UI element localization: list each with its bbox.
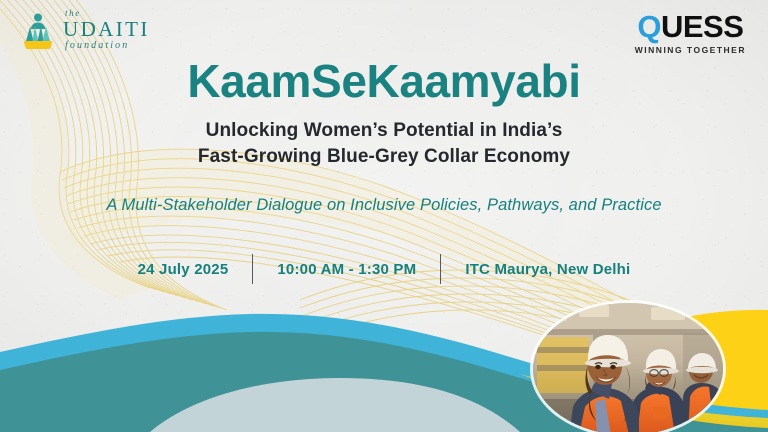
udaiti-logo-mark-icon — [20, 11, 56, 49]
poster-subtitle: Unlocking Women’s Potential in India’s F… — [0, 118, 768, 170]
detail-divider-1 — [252, 254, 253, 284]
event-date: 24 July 2025 — [114, 261, 253, 278]
udaiti-logo-wordmark: the UDAITI foundation — [63, 9, 150, 51]
quess-logo-rest-letters: UESS — [661, 9, 743, 44]
poster-subtitle-line-1: Unlocking Women’s Potential in India’s — [0, 118, 768, 144]
workers-photo-illustration — [533, 303, 723, 432]
event-venue: ITC Maurya, New Delhi — [441, 261, 654, 278]
quess-logo-wordmark: QUESS — [637, 11, 743, 42]
event-poster: the UDAITI foundation QUESS WINNING TOGE… — [0, 0, 768, 432]
quess-logo: QUESS WINNING TOGETHER — [635, 11, 746, 55]
workers-photo — [533, 303, 723, 432]
detail-divider-2 — [440, 254, 441, 284]
quess-logo-q-letter: Q — [637, 9, 661, 44]
poster-title: KaamSeKaamyabi — [0, 58, 768, 104]
udaiti-logo-foundation: foundation — [65, 41, 150, 51]
poster-tagline: A Multi-Stakeholder Dialogue on Inclusiv… — [0, 196, 768, 215]
udaiti-logo-name: UDAITI — [63, 19, 150, 40]
event-time: 10:00 AM - 1:30 PM — [253, 261, 440, 278]
udaiti-foundation-logo: the UDAITI foundation — [20, 9, 150, 51]
quess-logo-tagline: WINNING TOGETHER — [635, 45, 746, 55]
event-details-bar: 24 July 2025 10:00 AM - 1:30 PM ITC Maur… — [0, 254, 768, 284]
poster-subtitle-line-2: Fast-Growing Blue-Grey Collar Economy — [0, 144, 768, 170]
